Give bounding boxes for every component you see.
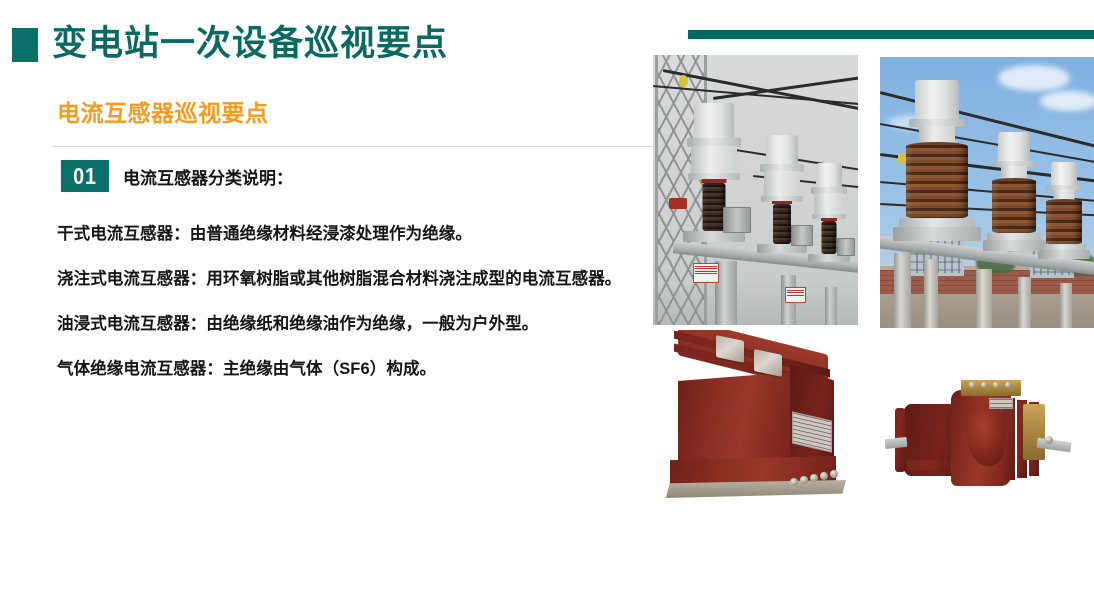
title-marker-square (12, 28, 38, 62)
body-copy: 干式电流互感器：由普通绝缘材料经浸漆处理作为绝缘。 浇注式电流互感器：用环氧树脂… (57, 222, 635, 382)
page-title: 变电站一次设备巡视要点 (52, 22, 448, 66)
photo-indoor-cast-resin-current-transformer-block (650, 330, 875, 525)
nameplate (989, 398, 1013, 409)
header-accent-bar (688, 30, 1094, 39)
section-item-01: 01 电流互感器分类说明： (57, 160, 293, 192)
busbar-stud (1005, 382, 1011, 388)
page-subtitle: 电流互感器巡视要点 (57, 98, 269, 128)
support-column (924, 259, 938, 328)
support-column (825, 287, 837, 325)
current-transformer-unit (890, 80, 984, 254)
support-column (1018, 277, 1031, 328)
cloud (1040, 91, 1094, 111)
secondary-terminal-stud (810, 474, 818, 482)
busbar-stud (969, 382, 975, 388)
current-transformer-unit (675, 103, 753, 253)
section-divider (53, 146, 677, 147)
aerial-marker-ball (679, 75, 688, 87)
resin-fin (1003, 398, 1015, 480)
paragraph-gas-insulated: 气体绝缘电流互感器：主绝缘由气体（SF6）构成。 (57, 357, 635, 382)
secondary-terminal-stud (820, 472, 828, 480)
current-transformer-unit (1036, 162, 1092, 270)
busbar-stud (981, 382, 987, 388)
support-column (976, 269, 992, 328)
warning-placard (785, 287, 806, 303)
photo-outdoor-current-transformers-overcast (653, 55, 858, 325)
terminal-clamp (669, 198, 687, 209)
section-heading: 电流互感器分类说明： (123, 164, 293, 189)
cloud (998, 65, 1070, 91)
mounting-stud (1045, 436, 1053, 444)
photo-indoor-cast-resin-current-transformer-ring (885, 378, 1080, 498)
secondary-terminal-stud (800, 476, 808, 484)
secondary-terminal-stud (790, 478, 798, 486)
paragraph-dry-type: 干式电流互感器：由普通绝缘材料经浸漆处理作为绝缘。 (57, 222, 635, 247)
primary-busbar (1023, 404, 1045, 460)
busbar-stud (993, 382, 999, 388)
support-column (894, 253, 911, 328)
photo-outdoor-current-transformers-blue-sky (880, 57, 1094, 328)
warning-placard (693, 263, 719, 283)
paragraph-oil-immersed: 油浸式电流互感器：由绝缘纸和绝缘油作为绝缘，一般为户外型。 (57, 312, 635, 337)
paragraph-cast-resin: 浇注式电流互感器：用环氧树脂或其他树脂混合材料浇注成型的电流互感器。 (57, 267, 635, 292)
support-column (1060, 283, 1072, 328)
slide-root: 变电站一次设备巡视要点 电流互感器巡视要点 01 电流互感器分类说明： 干式电流… (0, 0, 1094, 613)
current-transformer-unit (803, 163, 855, 271)
secondary-terminal-stud (830, 470, 838, 478)
section-number-badge: 01 (61, 160, 109, 192)
